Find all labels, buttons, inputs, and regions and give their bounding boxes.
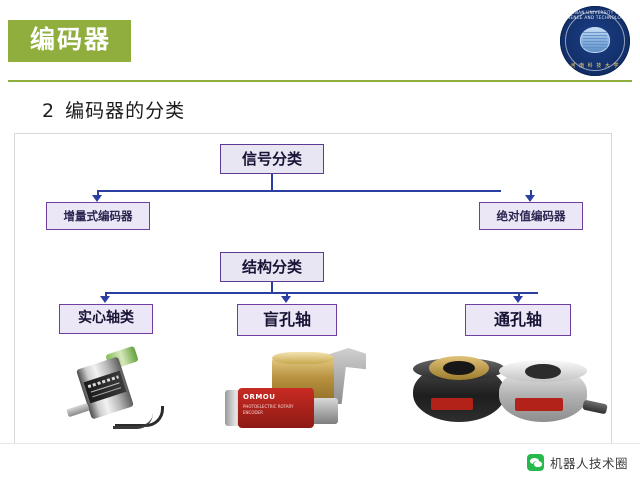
arrow-incr: [92, 195, 102, 202]
logo-emblem-icon: [580, 27, 610, 53]
encoder-brand-text: ORMOU: [243, 393, 275, 401]
node-solid-shaft: 实心轴类: [59, 304, 153, 334]
section-number: 2: [42, 100, 55, 122]
connector-signal-down: [271, 174, 273, 190]
logo-bottom-text: 河 南 科 技 大 学: [560, 62, 630, 69]
node-structure-classification: 结构分类: [220, 252, 324, 282]
university-logo: HENAN UNIVERSITY OF SCIENCE AND TECHNOLO…: [560, 6, 630, 76]
node-signal-classification: 信号分类: [220, 144, 324, 174]
wechat-icon: [527, 454, 544, 471]
arrow-thru: [513, 296, 523, 303]
encoder-brand-subtext: PHOTOELECTRIC ROTARY ENCODER: [243, 404, 314, 416]
connector-signal-horizontal: [97, 190, 501, 192]
node-blind-hole-shaft: 盲孔轴: [237, 304, 337, 336]
connector-plug: [312, 398, 338, 424]
wechat-label: 机器人技术圈: [550, 453, 628, 472]
arrow-solid: [100, 296, 110, 303]
thru-hole: [443, 361, 475, 375]
section-title-text: 编码器的分类: [65, 100, 185, 122]
wechat-watermark: 机器人技术圈: [527, 453, 628, 472]
photo-blind-hole-encoder: ORMOU PHOTOELECTRIC ROTARY ENCODER: [220, 346, 370, 442]
encoder-cable-connector: [582, 400, 608, 415]
page-title: 编码器: [8, 20, 131, 62]
node-absolute-encoder: 绝对值编码器: [479, 202, 583, 230]
photo-thru-hole-encoder: [407, 342, 607, 442]
arrow-blind: [281, 296, 291, 303]
node-incremental-encoder: 增量式编码器: [46, 202, 150, 230]
slide-footer: 机器人技术圈: [0, 443, 640, 480]
section-subtitle: 2编码器的分类: [42, 96, 185, 123]
arrow-abs: [525, 195, 535, 202]
silver-encoder-label: [515, 398, 563, 411]
logo-top-text: HENAN UNIVERSITY OF SCIENCE AND TECHNOLO…: [560, 10, 630, 20]
slide: 编码器 HENAN UNIVERSITY OF SCIENCE AND TECH…: [0, 0, 640, 480]
header-divider: [8, 80, 632, 82]
content-panel: 信号分类 增量式编码器 绝对值编码器 结构分类 实心轴类 盲孔轴 通孔轴 ORM…: [14, 133, 612, 447]
thru-hole-2: [525, 364, 561, 379]
slide-header: 编码器 HENAN UNIVERSITY OF SCIENCE AND TECH…: [0, 0, 640, 84]
encoder-shaft: [66, 403, 89, 417]
brass-housing-top: [272, 352, 334, 364]
connector-structure-horizontal: [105, 292, 538, 294]
photo-solid-shaft-encoder: [55, 346, 175, 438]
red-encoder-body: ORMOU PHOTOELECTRIC ROTARY ENCODER: [238, 388, 314, 428]
dark-encoder-label: [431, 398, 473, 410]
node-thru-hole-shaft: 通孔轴: [465, 304, 571, 336]
